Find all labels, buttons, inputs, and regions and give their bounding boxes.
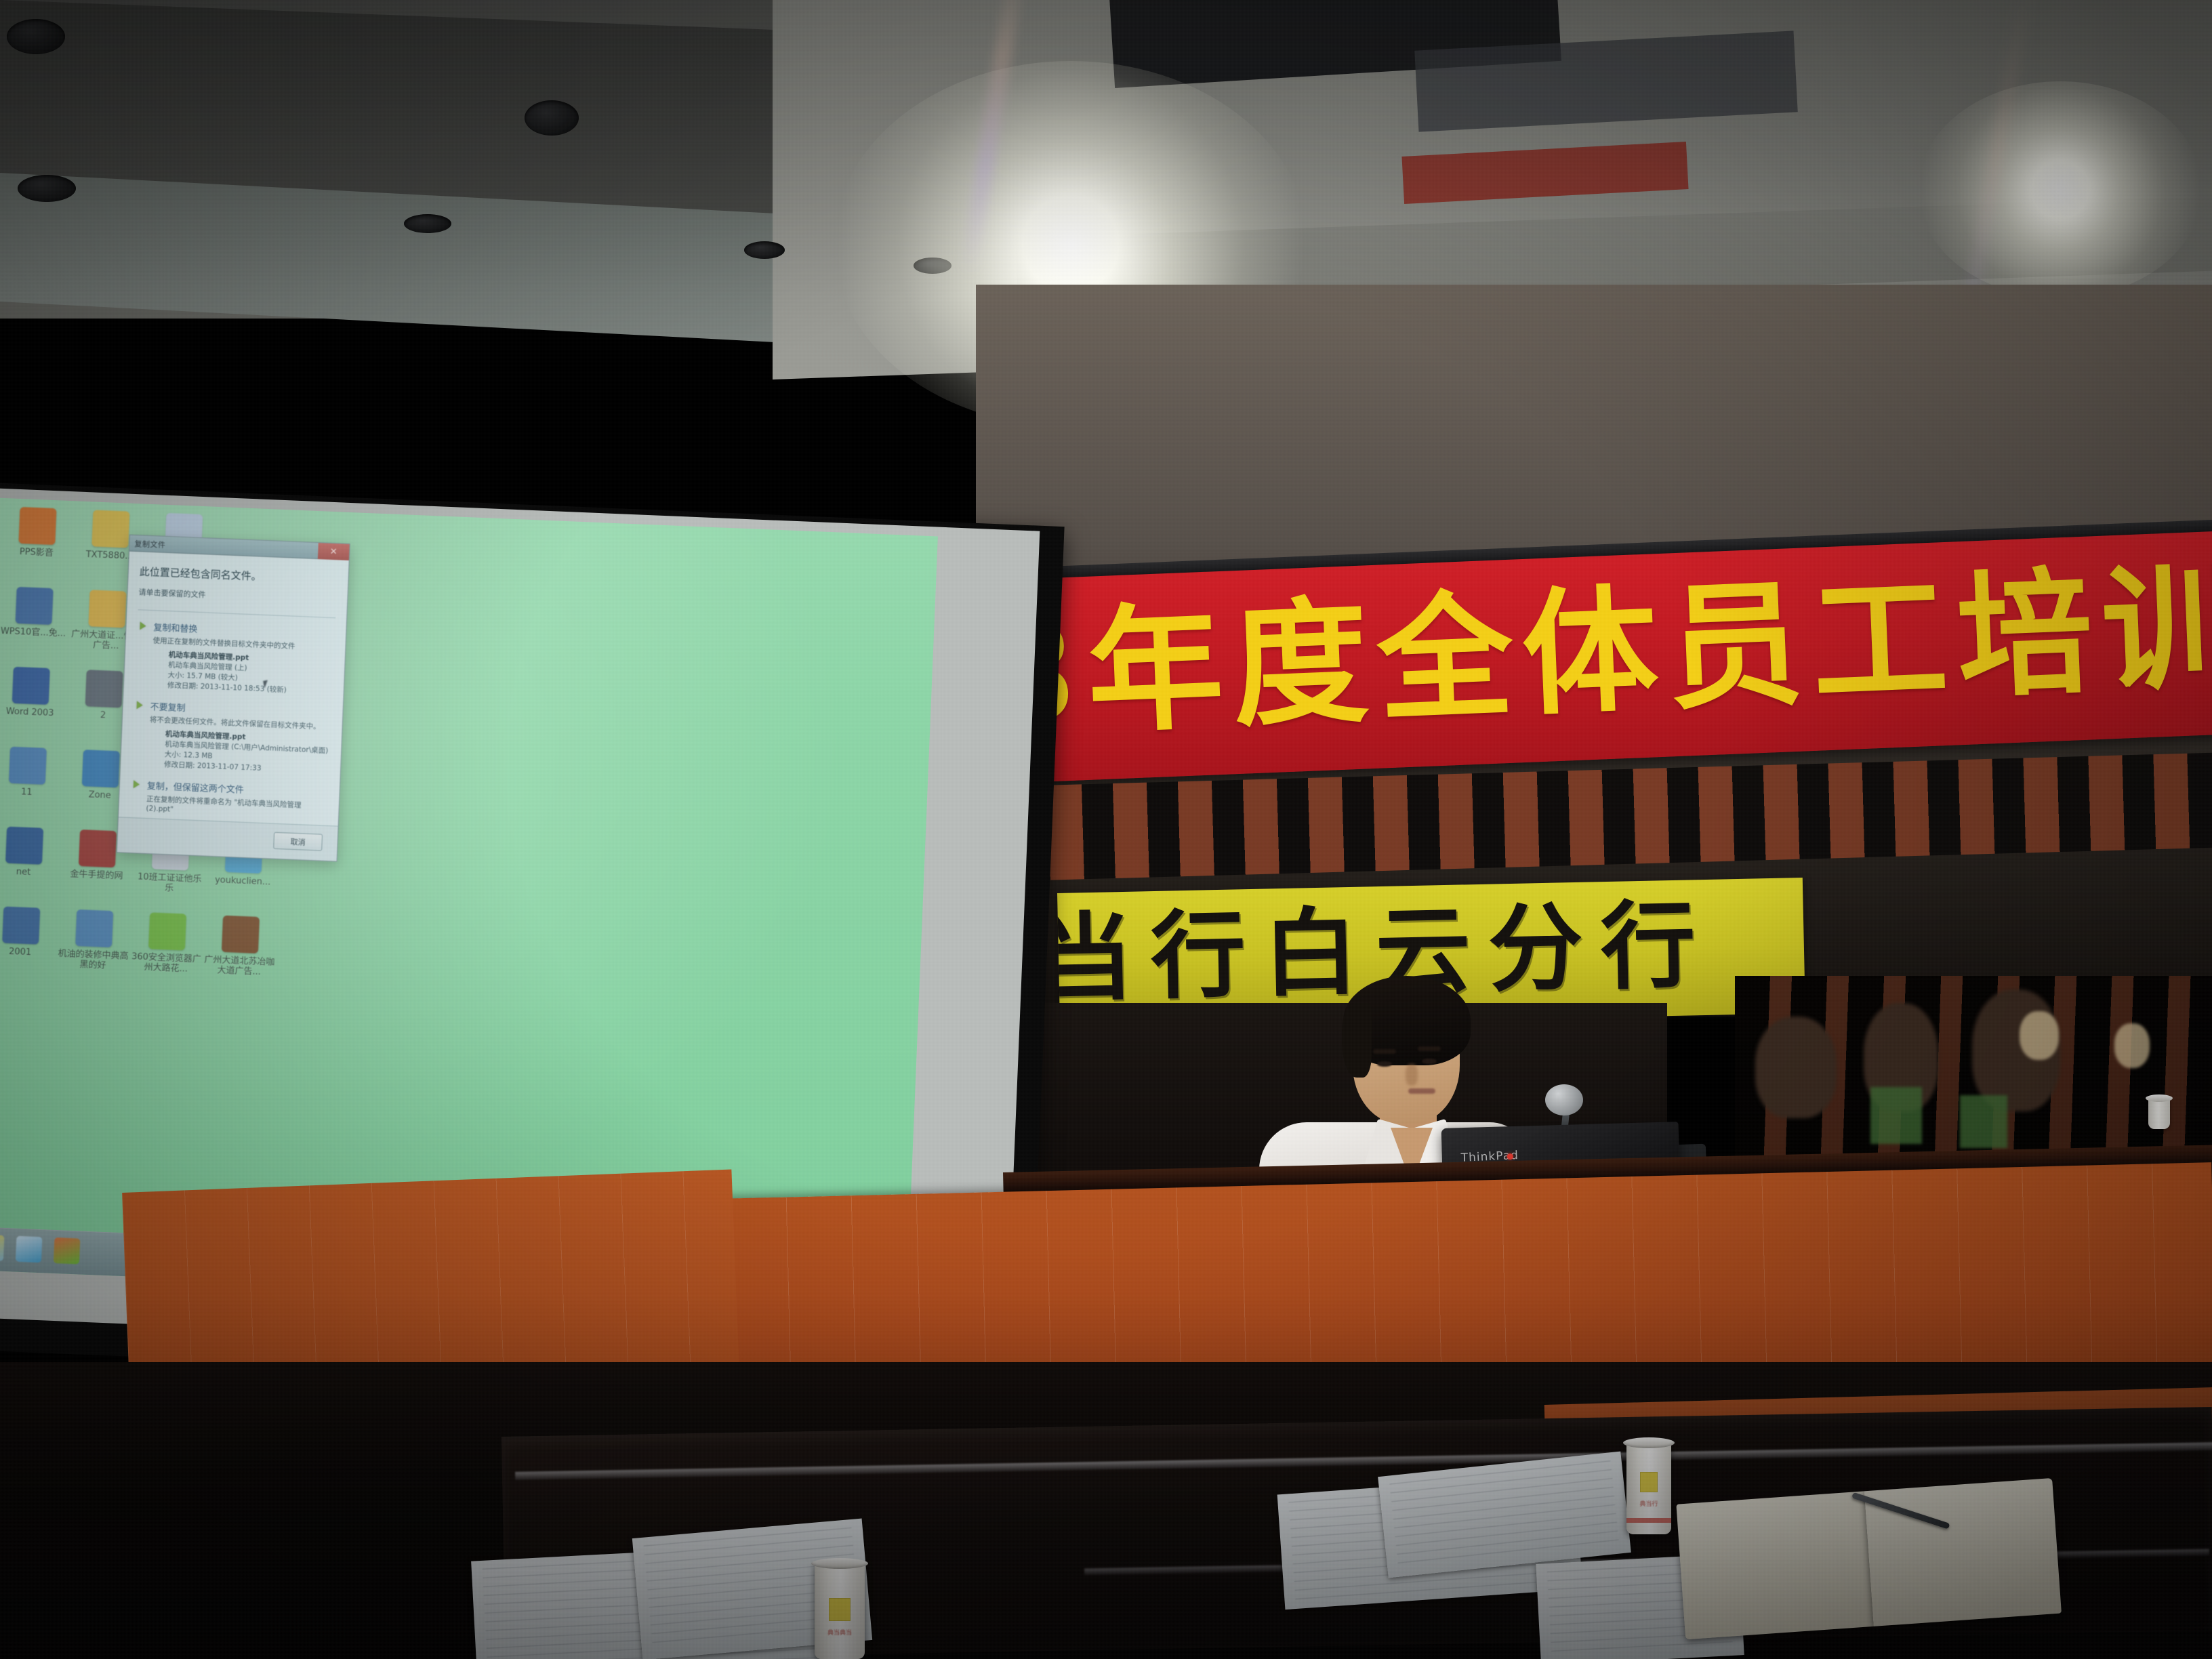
word-icon: [12, 667, 50, 705]
green-arrow-icon: [140, 621, 146, 630]
app-icon: [79, 829, 117, 867]
presenter-eye: [1422, 1059, 1437, 1064]
downlight-icon: [744, 241, 785, 259]
paper-cup-left: 典当典当: [815, 1563, 865, 1659]
desktop-icon[interactable]: WPS10官...免...: [0, 586, 70, 639]
option-copy-and-replace[interactable]: 复制和替换 使用正在复制的文件替换目标文件夹中的文件 机动车典当风险管理.ppt…: [135, 619, 335, 697]
paper-cup-right: 典当行: [1626, 1442, 1671, 1534]
folder-icon: [88, 590, 126, 628]
browser-icon: [148, 912, 186, 950]
explorer-icon[interactable]: [0, 1234, 4, 1261]
option-copy-but-keep-both[interactable]: 复制，但保留这两个文件 正在复制的文件将重命名为 "机动车典当风险管理 (2).…: [129, 778, 329, 821]
audience-face: [2020, 1011, 2059, 1060]
app-icon: [5, 827, 43, 865]
downlight-icon: [525, 100, 579, 136]
seat-back: [1870, 1087, 1922, 1144]
conference-room-scene: 3年度全体员工培训大会 当行白云分行 PPS影音 TXT5880... 2013…: [0, 0, 2212, 1659]
downlight-icon: [18, 175, 76, 202]
desktop-icon[interactable]: 机油的装修中典高黑的好: [58, 909, 131, 972]
paper-cup: [2148, 1098, 2170, 1129]
app-icon: [16, 587, 54, 625]
presenter-hair-side: [1342, 1003, 1372, 1078]
cancel-button[interactable]: 取消: [273, 832, 323, 851]
copy-file-dialog[interactable]: 复制文件 ✕ 此位置已经包含同名文件。 请单击要保留的文件 复制和替换 使用正在…: [117, 535, 350, 862]
cup-brand-text: 典当行: [1639, 1499, 1658, 1508]
app-icon: [82, 750, 120, 787]
desktop-icon[interactable]: net: [0, 826, 60, 879]
desktop-icon[interactable]: 360安全浏览器广州大路花...: [131, 912, 204, 975]
presenter-eyebrow: [1418, 1046, 1441, 1051]
media-player-icon[interactable]: [54, 1237, 81, 1265]
option-do-not-copy[interactable]: 不要复制 将不会更改任何文件。将此文件保留在目标文件夹中。 机动车典当风险管理.…: [131, 699, 332, 777]
cup-rim: [1623, 1437, 1675, 1448]
file-icon: [2, 906, 40, 944]
notebook: [1676, 1478, 2064, 1647]
microphone-icon: [1545, 1084, 1583, 1115]
desktop-icon-grid: PPS影音 TXT5880... 2013年5月...年底工... WPS10官…: [3, 506, 288, 518]
downlight-icon: [914, 258, 951, 274]
presenter-eyebrow: [1373, 1049, 1396, 1054]
folder-icon: [85, 670, 123, 708]
seat-back: [1960, 1095, 2007, 1148]
cup-rim: [811, 1558, 868, 1569]
presenter-eye: [1377, 1061, 1392, 1067]
green-arrow-icon: [136, 701, 142, 709]
taskbar-quicklaunch: [0, 1234, 80, 1264]
app-icon: [18, 507, 56, 545]
audience-face: [2114, 1023, 2150, 1068]
cup-brand-text: 典当典当: [827, 1628, 852, 1637]
option-detail: 机动车典当风险管理.ppt 机动车典当风险管理 (上) 大小: 15.7 MB …: [167, 650, 334, 697]
app-icon: [75, 909, 113, 947]
file-icon: [9, 747, 47, 785]
divider: [138, 609, 335, 618]
desktop-icon[interactable]: 广州大道北苏冶咖大道广告...: [203, 915, 276, 978]
cup-logo-icon: [1640, 1472, 1658, 1492]
downlight-icon: [404, 214, 451, 233]
dialog-body: 此位置已经包含同名文件。 请单击要保留的文件 复制和替换 使用正在复制的文件替换…: [117, 552, 349, 861]
green-arrow-icon: [134, 780, 140, 788]
cup-logo-icon: [829, 1598, 851, 1621]
desktop-icon[interactable]: PPS影音: [1, 506, 74, 559]
internet-explorer-icon[interactable]: [16, 1236, 43, 1263]
desktop-icon[interactable]: 2001: [0, 905, 57, 958]
cup-band: [1626, 1518, 1671, 1523]
notebook-page-left: [1676, 1491, 1873, 1639]
media-icon: [222, 916, 260, 954]
presenter-mouth: [1408, 1088, 1435, 1094]
desktop-icon[interactable]: 11: [0, 746, 64, 799]
file-icon: [91, 510, 129, 548]
presenter-nose: [1406, 1064, 1418, 1086]
dialog-title: 复制文件: [129, 537, 166, 550]
dialog-heading: 此位置已经包含同名文件。: [139, 564, 337, 586]
dialog-subheading: 请单击要保留的文件: [138, 586, 336, 605]
notebook-page-right: [1864, 1478, 2062, 1626]
desktop-icon[interactable]: Word 2003: [0, 666, 67, 719]
option-detail: 机动车典当风险管理.ppt 机动车典当风险管理 (C:\用户\Administr…: [164, 729, 331, 777]
downlight-icon: [7, 19, 65, 54]
close-icon[interactable]: ✕: [318, 543, 350, 560]
audience-figure: [1755, 1017, 1837, 1118]
option-description: 正在复制的文件将重命名为 "机动车典当风险管理 (2).ppt": [146, 794, 328, 821]
